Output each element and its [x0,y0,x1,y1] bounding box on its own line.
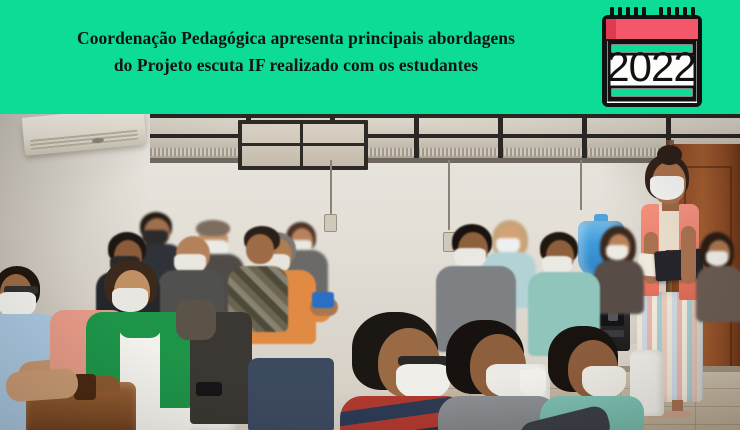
page-title: Coordenação Pedagógica apresenta princip… [0,25,592,79]
shoulder-dark [176,300,216,340]
event-photograph [0,114,740,430]
presenter-arm-right [681,226,696,284]
hanging-wire-2 [448,160,450,230]
presenter-sandal-right [669,411,691,418]
presenter-hair-bun [657,145,682,165]
window-mullion-3 [414,114,419,160]
jeans-mid [248,358,334,430]
window-mullion-4 [498,114,503,160]
left-window-mullion [300,124,303,166]
window-rail-top [150,114,740,118]
hanging-wire-1 [330,160,332,214]
window-mullion-5 [582,114,587,160]
poster-root: Coordenação Pedagógica apresenta princip… [0,0,740,430]
wall-switch-1 [324,214,337,232]
left-window-rail [242,143,364,146]
hanging-wire-3 [580,160,582,210]
calendar-2022-icon: 2022 [596,5,706,111]
paper-cup [520,370,546,394]
calendar-year-text: 2022 [606,43,695,90]
smartphone [196,382,222,396]
blue-phone [312,292,334,308]
header-banner: Coordenação Pedagógica apresenta princip… [0,0,740,115]
arm-holding-bag [5,368,79,403]
presenter-face-mask [650,176,684,200]
